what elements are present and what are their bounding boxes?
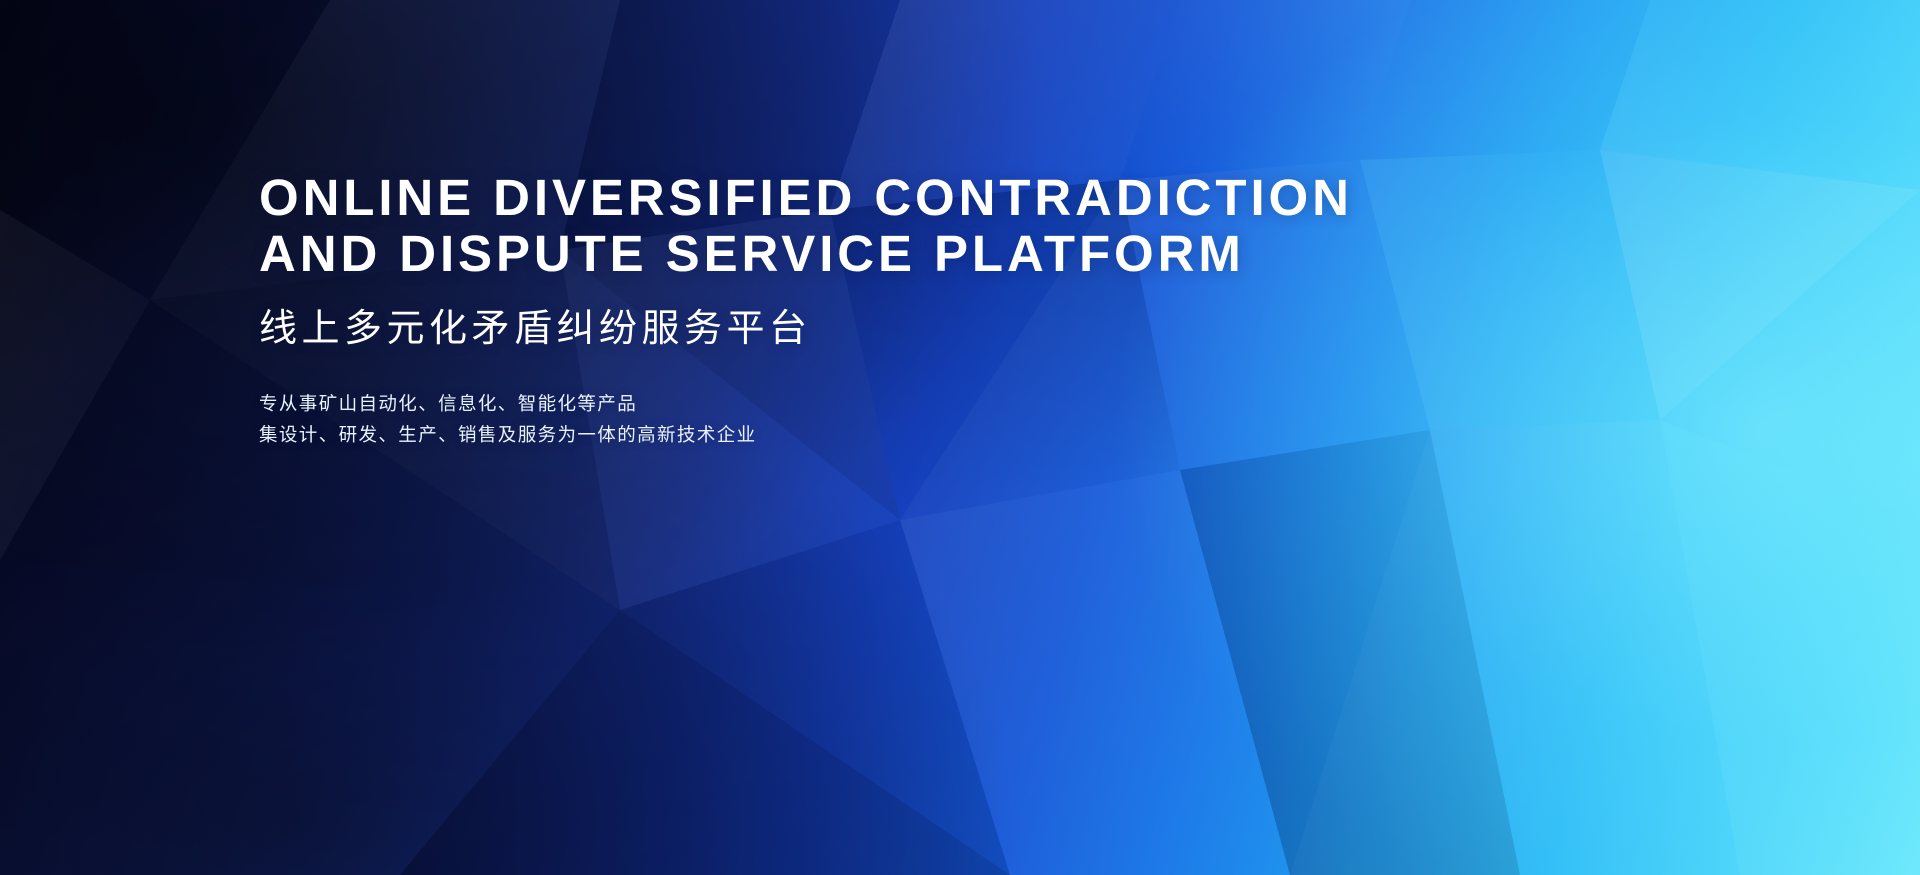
page-title: ONLINE DIVERSIFIED CONTRADICTION AND DIS… [259, 170, 1459, 282]
headline-line-1: ONLINE DIVERSIFIED CONTRADICTION [259, 170, 1459, 226]
description-block: 专从事矿山自动化、信息化、智能化等产品 集设计、研发、生产、销售及服务为一体的高… [259, 388, 1459, 450]
banner-content: ONLINE DIVERSIFIED CONTRADICTION AND DIS… [259, 170, 1459, 450]
subtitle: 线上多元化矛盾纠纷服务平台 [259, 306, 1459, 352]
description-line-1: 专从事矿山自动化、信息化、智能化等产品 [259, 388, 1459, 419]
description-line-2: 集设计、研发、生产、销售及服务为一体的高新技术企业 [259, 419, 1459, 450]
hero-banner: ONLINE DIVERSIFIED CONTRADICTION AND DIS… [0, 0, 1920, 875]
headline-line-2: AND DISPUTE SERVICE PLATFORM [259, 226, 1459, 282]
